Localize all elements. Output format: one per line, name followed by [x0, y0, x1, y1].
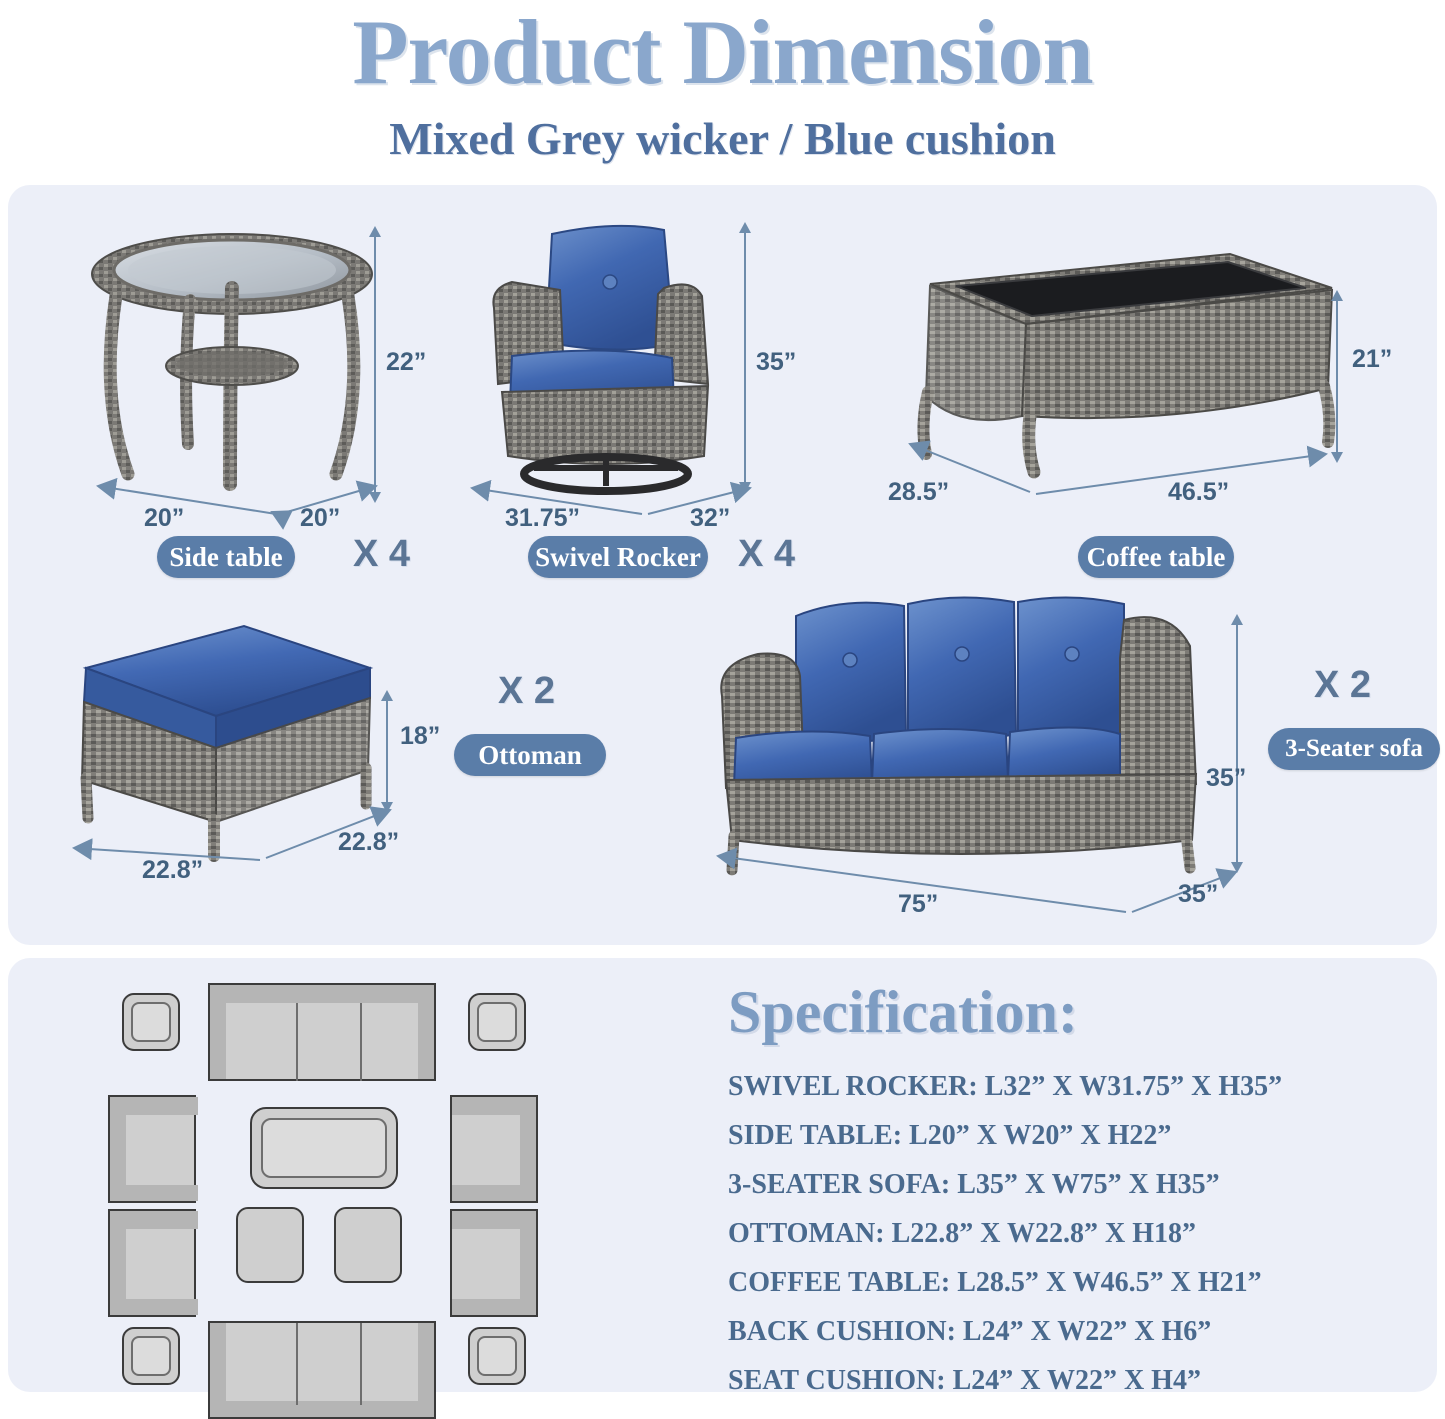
- sofa-height-line: [1236, 624, 1238, 862]
- plan-ottoman-left: [236, 1207, 304, 1283]
- side-table-height-line: [374, 236, 376, 492]
- side-table-illustration: [86, 222, 376, 512]
- sofa-height-arrow-top: [1231, 614, 1243, 625]
- plan-side-table-top-right: [468, 993, 526, 1051]
- coffee-table-height-line: [1336, 300, 1338, 452]
- ottoman-label-pill: Ottoman: [454, 734, 606, 776]
- specification-heading: Specification:: [728, 980, 1078, 1044]
- spec-item-side-table: SIDE TABLE: L20” X W20” X H22”: [728, 1111, 1428, 1160]
- swivel-rocker-quantity: X 4: [738, 533, 795, 576]
- spec-item-ottoman: OTTOMAN: L22.8” X W22.8” X H18”: [728, 1209, 1428, 1258]
- coffee-table-height-arrow-top: [1331, 290, 1343, 301]
- sofa-label-pill: 3-Seater sofa: [1268, 728, 1440, 770]
- plan-chair-left-lower: [108, 1209, 196, 1317]
- side-table-label-pill: Side table: [157, 536, 295, 578]
- side-table-depth-label: 20”: [300, 504, 340, 533]
- ottoman-depth-label: 22.8”: [338, 828, 399, 857]
- swivel-rocker-label-pill: Swivel Rocker: [528, 536, 708, 578]
- coffee-table-width-label: 28.5”: [888, 478, 949, 507]
- plan-chair-left-upper: [108, 1095, 196, 1203]
- spec-item-coffee-table: COFFEE TABLE: L28.5” X W46.5” X H21”: [728, 1258, 1428, 1307]
- plan-chair-right-upper: [450, 1095, 538, 1203]
- infographic-canvas: Product Dimension Mixed Grey wicker / Bl…: [0, 0, 1445, 1396]
- ottoman-width-label: 22.8”: [142, 856, 203, 885]
- coffee-table-depth-label: 46.5”: [1168, 478, 1229, 507]
- plan-coffee-table: [250, 1107, 398, 1189]
- plan-chair-right-lower: [450, 1209, 538, 1317]
- side-table-height-label: 22”: [386, 348, 426, 377]
- ottoman-height-label: 18”: [400, 722, 440, 751]
- plan-sofa-bottom: [208, 1321, 436, 1419]
- side-table-height-arrow-top: [369, 226, 381, 237]
- ottoman-quantity: X 2: [498, 670, 555, 713]
- plan-sofa-top: [208, 983, 436, 1081]
- side-table-width-label: 20”: [144, 504, 184, 533]
- swivel-rocker-height-line: [744, 232, 746, 482]
- page-title: Product Dimension: [0, 4, 1445, 100]
- plan-side-table-bottom-right: [468, 1327, 526, 1385]
- page-subtitle: Mixed Grey wicker / Blue cushion: [0, 112, 1445, 166]
- sofa-depth-label: 35”: [1178, 880, 1218, 909]
- sofa-height-label: 35”: [1206, 764, 1246, 793]
- side-table-base-arrows: [86, 478, 386, 524]
- plan-side-table-top-left: [122, 993, 180, 1051]
- sofa-base-arrows: [706, 836, 1246, 926]
- spec-item-seat-cushion: SEAT CUSHION: L24” X W22” X H4”: [728, 1356, 1428, 1405]
- swivel-rocker-depth-label: 32”: [690, 504, 730, 533]
- swivel-rocker-height-label: 35”: [756, 348, 796, 377]
- side-table-quantity: X 4: [353, 533, 410, 576]
- coffee-table-base-arrows: [896, 422, 1336, 504]
- coffee-table-label-pill: Coffee table: [1078, 536, 1234, 578]
- coffee-table-height-label: 21”: [1352, 345, 1392, 374]
- spec-item-swivel-rocker: SWIVEL ROCKER: L32” X W31.75” X H35”: [728, 1062, 1428, 1111]
- swivel-rocker-height-arrow-top: [739, 222, 751, 233]
- swivel-rocker-width-label: 31.75”: [505, 504, 580, 533]
- plan-side-table-bottom-left: [122, 1327, 180, 1385]
- spec-item-back-cushion: BACK CUSHION: L24” X W22” X H6”: [728, 1307, 1428, 1356]
- plan-ottoman-right: [334, 1207, 402, 1283]
- swivel-rocker-illustration: [468, 216, 748, 506]
- ottoman-height-line: [386, 700, 388, 802]
- sofa-quantity: X 2: [1314, 664, 1371, 707]
- layout-diagram: [110, 975, 690, 1375]
- sofa-width-label: 75”: [898, 890, 938, 919]
- ottoman-height-arrow-top: [381, 690, 393, 701]
- specification-list: SWIVEL ROCKER: L32” X W31.75” X H35” SID…: [728, 1062, 1428, 1405]
- spec-item-three-seater-sofa: 3-SEATER SOFA: L35” X W75” X H35”: [728, 1160, 1428, 1209]
